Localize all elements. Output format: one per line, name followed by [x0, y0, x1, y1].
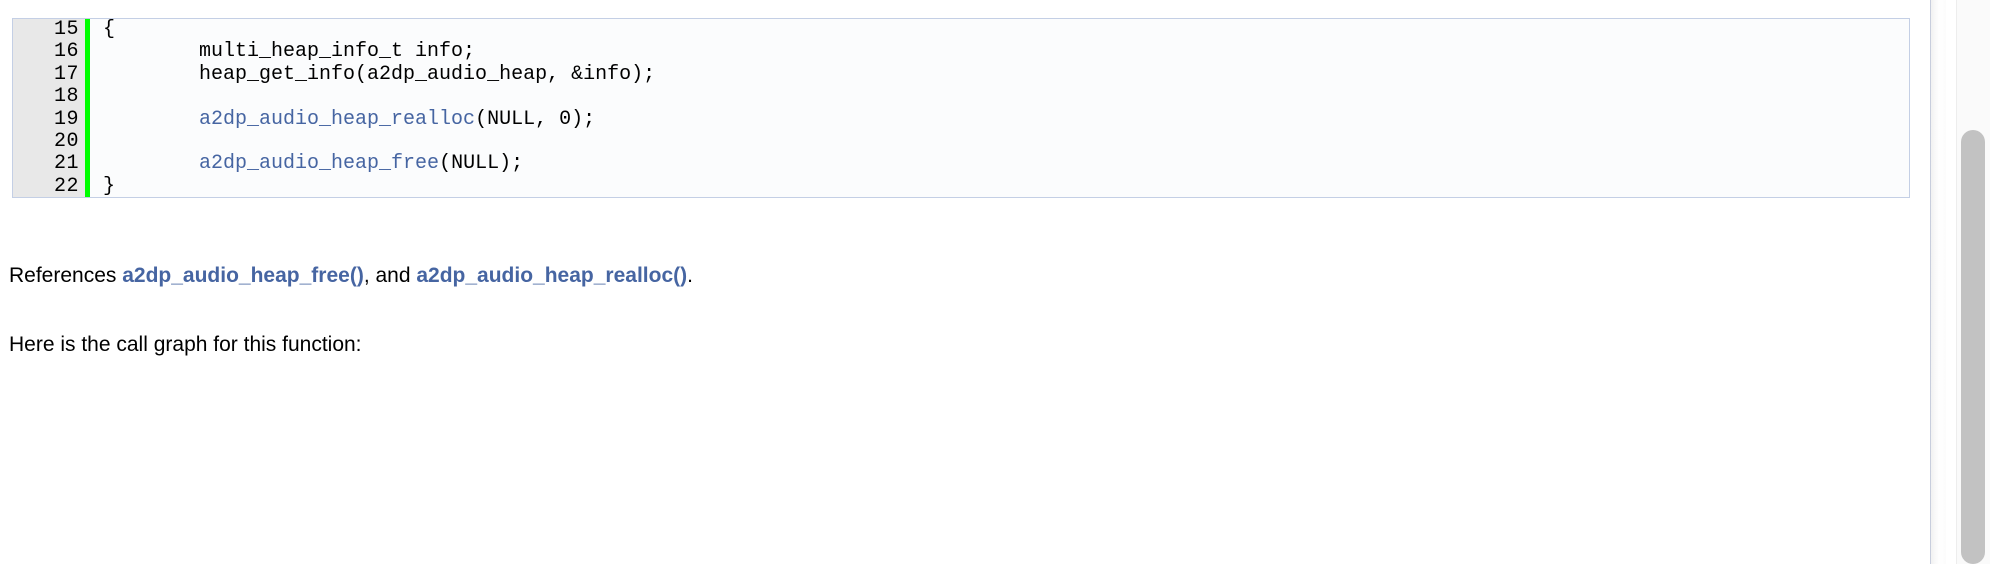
code-plain-text: multi_heap_info_t info;	[103, 40, 475, 63]
code-line-number: 16	[13, 41, 85, 63]
code-line: 17 heap_get_info(a2dp_audio_heap, &info)…	[13, 64, 1909, 86]
code-line: 22}	[13, 176, 1909, 198]
code-line-number: 17	[13, 64, 85, 86]
code-plain-text: heap_get_info(a2dp_audio_heap, &info);	[103, 63, 655, 86]
code-plain-text: (NULL);	[439, 152, 523, 175]
code-line: 18	[13, 86, 1909, 108]
reference-link-a2dp-audio-heap-realloc[interactable]: a2dp_audio_heap_realloc()	[416, 264, 687, 287]
content-edge-shadow	[1930, 0, 1946, 564]
call-graph-diagram: a2dp_audio_heap_infoa2dp_audio_heap_free…	[0, 368, 1930, 564]
code-line-text: {	[90, 19, 1909, 41]
code-line: 21 a2dp_audio_heap_free(NULL);	[13, 153, 1909, 175]
code-line-number: 21	[13, 153, 85, 175]
code-line-text: a2dp_audio_heap_realloc(NULL, 0);	[90, 109, 1909, 131]
code-line-number: 15	[13, 19, 85, 41]
scrollbar-gutter	[1930, 0, 1990, 564]
vertical-scrollbar-thumb[interactable]	[1961, 130, 1985, 564]
code-fragment: 15{16 multi_heap_info_t info;17 heap_get…	[12, 18, 1910, 198]
code-plain-text: }	[103, 175, 115, 198]
references-paragraph: References a2dp_audio_heap_free(), and a…	[9, 264, 693, 288]
code-symbol-link[interactable]: a2dp_audio_heap_realloc	[199, 108, 475, 131]
code-line-text: heap_get_info(a2dp_audio_heap, &info);	[90, 64, 1909, 86]
code-coverage-bar	[85, 131, 90, 153]
page-root: 15{16 multi_heap_info_t info;17 heap_get…	[0, 0, 1990, 564]
code-plain-text: (NULL, 0);	[475, 108, 595, 131]
references-prefix: References	[9, 264, 122, 287]
call-graph-canvas: a2dp_audio_heap_infoa2dp_audio_heap_free…	[0, 368, 1930, 564]
code-line-number: 18	[13, 86, 85, 108]
code-symbol-link[interactable]: a2dp_audio_heap_free	[199, 152, 439, 175]
callgraph-caption: Here is the call graph for this function…	[9, 333, 362, 357]
code-line: 19 a2dp_audio_heap_realloc(NULL, 0);	[13, 109, 1909, 131]
document-content: 15{16 multi_heap_info_t info;17 heap_get…	[0, 0, 1930, 564]
code-line: 20	[13, 131, 1909, 153]
code-line-number: 22	[13, 176, 85, 198]
code-plain-text	[103, 152, 199, 175]
code-line-number: 19	[13, 109, 85, 131]
reference-link-a2dp-audio-heap-free[interactable]: a2dp_audio_heap_free()	[122, 264, 364, 287]
code-line: 15{	[13, 19, 1909, 41]
code-plain-text: {	[103, 18, 115, 41]
code-line: 16 multi_heap_info_t info;	[13, 41, 1909, 63]
code-plain-text	[103, 108, 199, 131]
code-line-number: 20	[13, 131, 85, 153]
code-line-text: }	[90, 176, 1909, 198]
code-line-text: a2dp_audio_heap_free(NULL);	[90, 153, 1909, 175]
references-middle: , and	[364, 264, 417, 287]
code-coverage-bar	[85, 86, 90, 108]
code-line-text: multi_heap_info_t info;	[90, 41, 1909, 63]
references-suffix: .	[687, 264, 693, 287]
